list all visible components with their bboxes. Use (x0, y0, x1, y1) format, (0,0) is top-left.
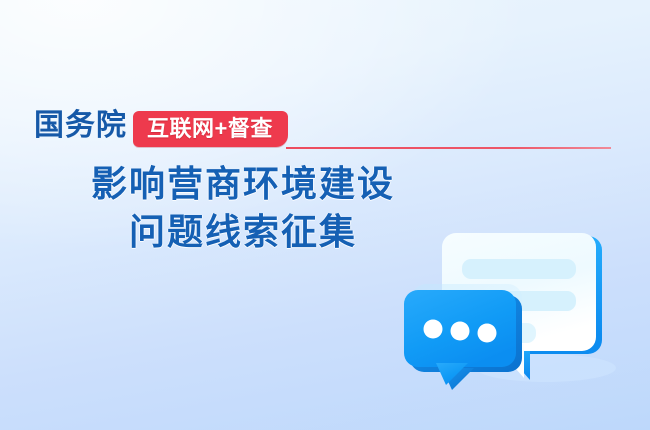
banner-root: 国务院 互联网+督查 影响营商环境建设 问题线索征集 (0, 0, 650, 430)
header-divider-rule (286, 147, 611, 149)
banner-header: 国务院 互联网+督查 (0, 52, 650, 100)
page-title-line-1: 影响营商环境建设 (28, 160, 458, 208)
page-title-line-2: 问题线索征集 (28, 208, 458, 256)
bubble-dot (451, 322, 470, 341)
internet-supervision-badge-label: 互联网+督查 (147, 117, 273, 141)
gov-council-label: 国务院 (34, 108, 127, 144)
page-title: 影响营商环境建设 问题线索征集 (28, 160, 458, 256)
internet-supervision-badge: 互联网+督查 (133, 111, 288, 147)
chat-bubbles-illustration (396, 218, 616, 393)
bubble-dot (478, 324, 497, 343)
bubble-dot (424, 320, 443, 339)
